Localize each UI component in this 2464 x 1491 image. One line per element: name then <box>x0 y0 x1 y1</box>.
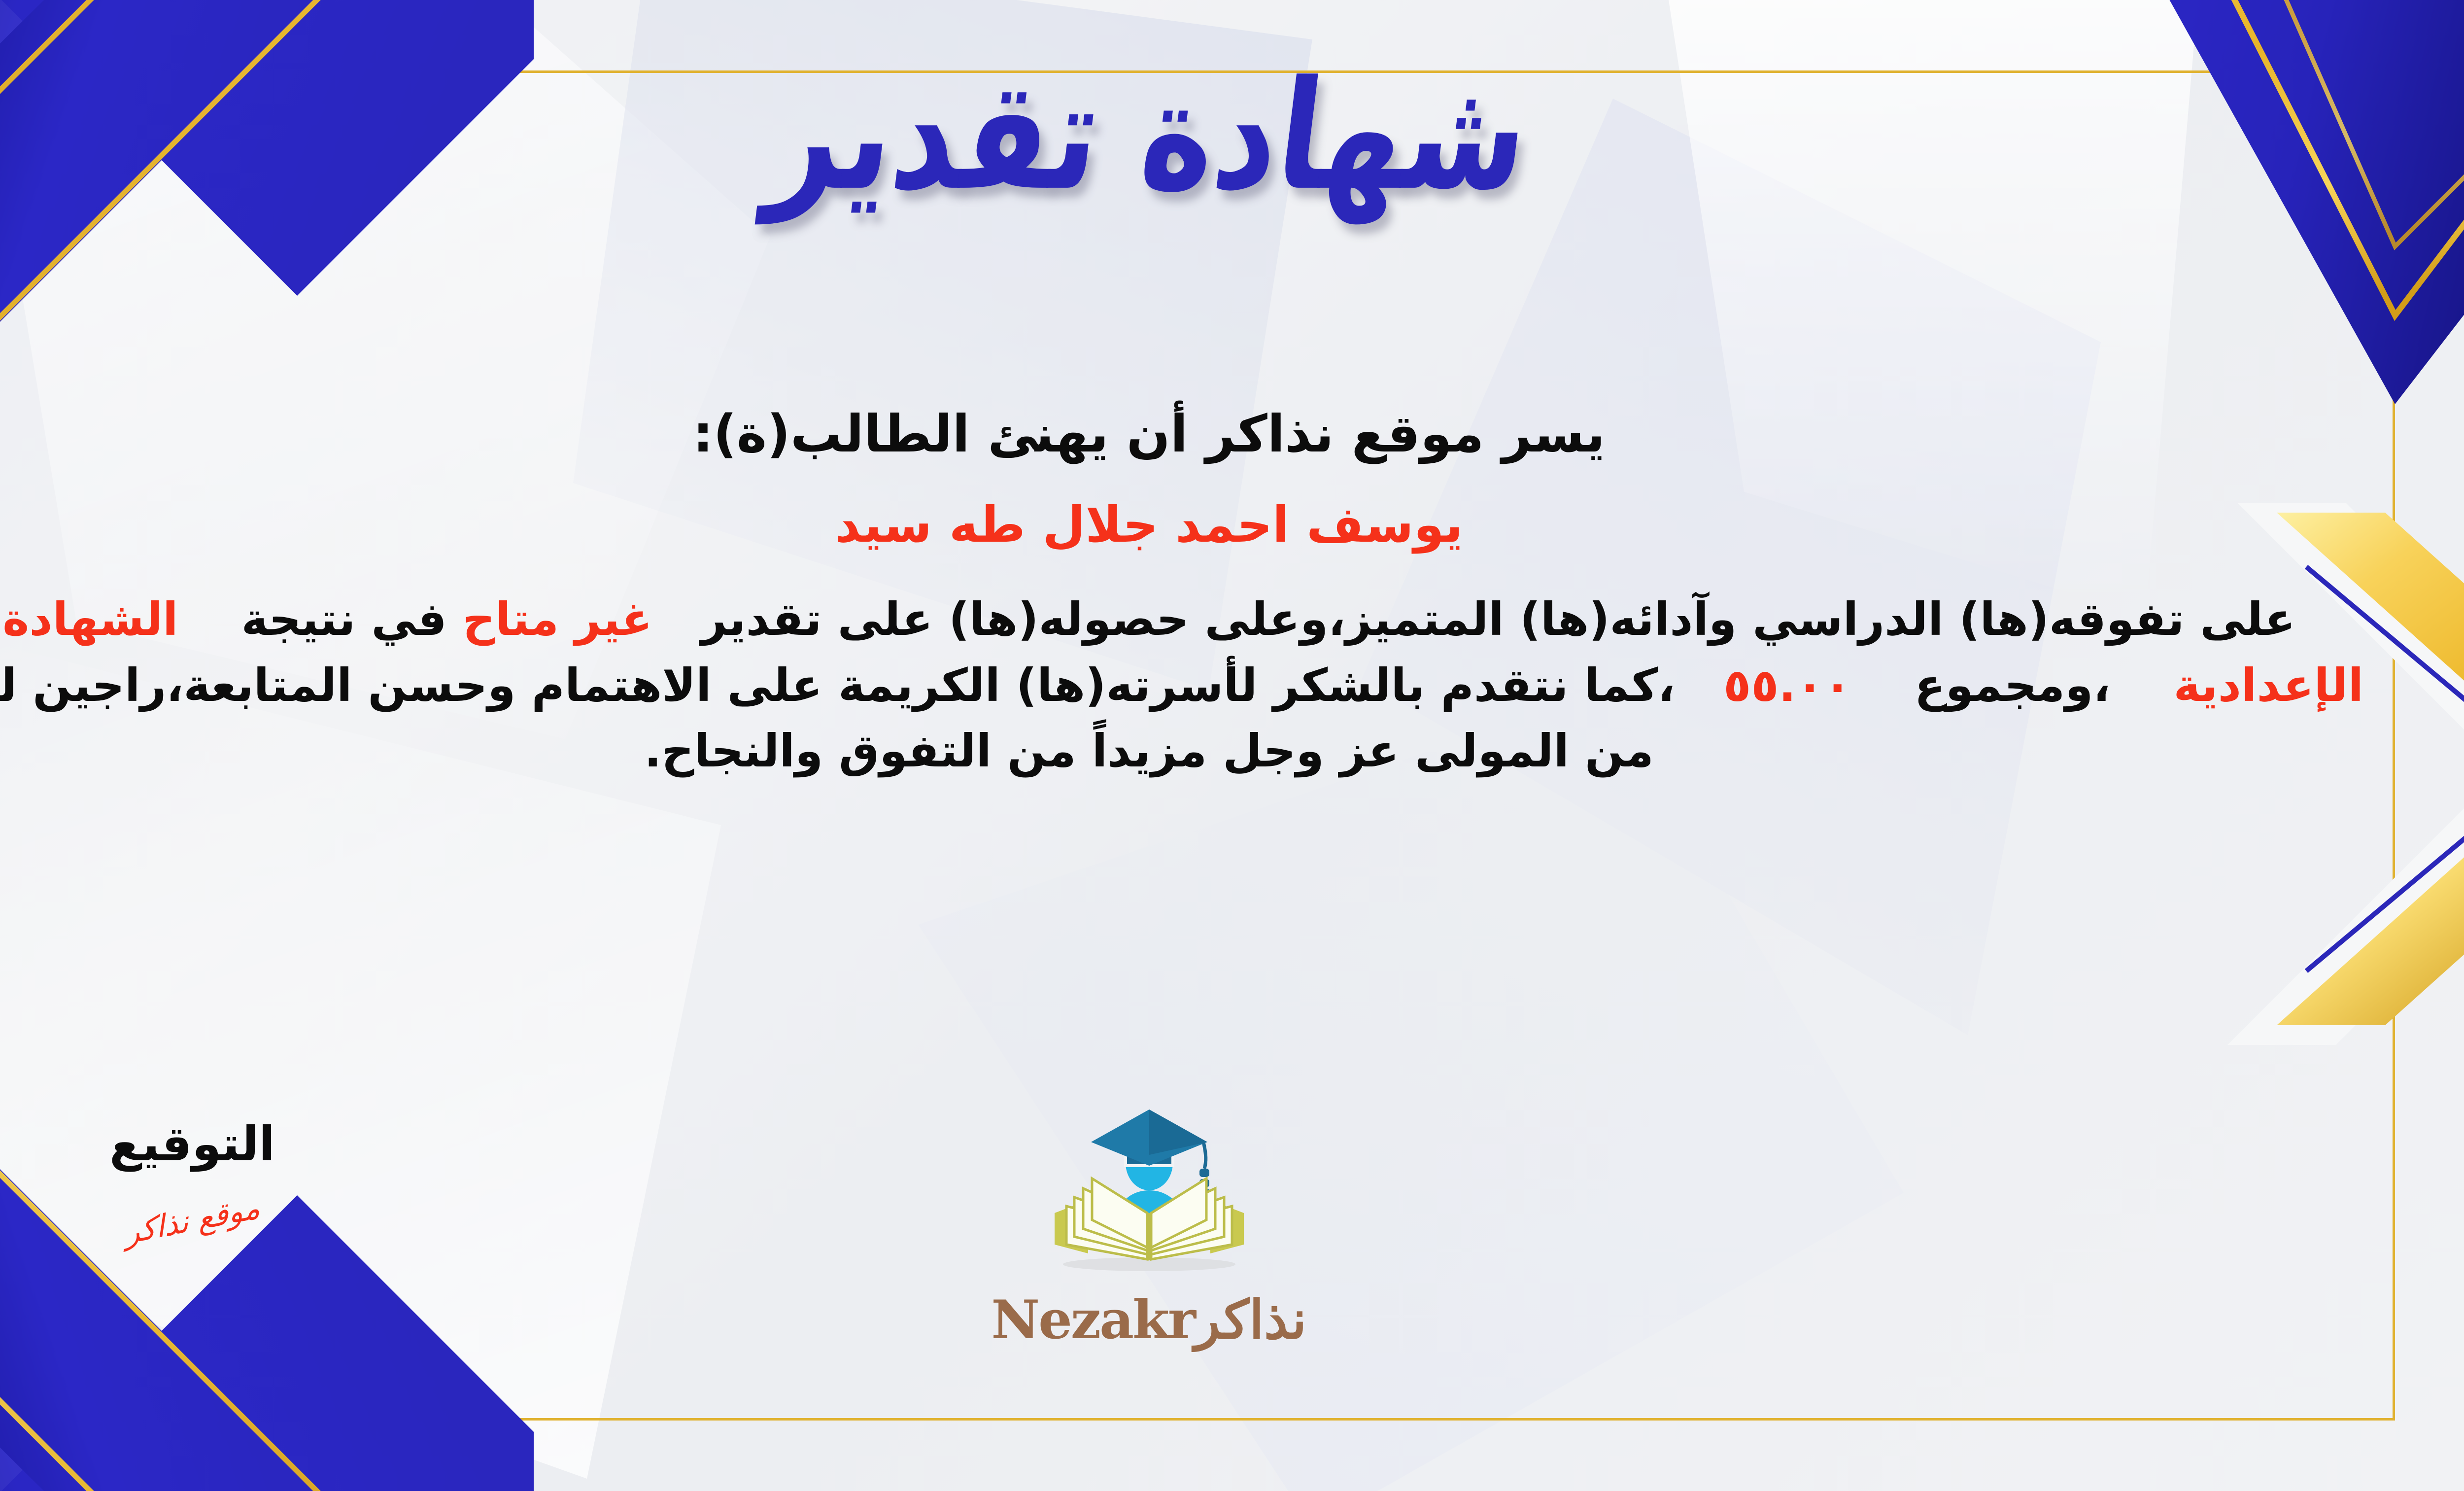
logo-wordmark: نذاكرNezakr <box>952 1289 1346 1351</box>
paragraph-segment-4: ،كما نتقدم بالشكر لأسرته(ها) <box>1016 659 1675 712</box>
intro-line: يسر موقع نذاكر أن يهنئ الطالب(ة): <box>0 399 2380 468</box>
certificate-body: يسر موقع نذاكر أن يهنئ الطالب(ة): يوسف ا… <box>0 399 2380 784</box>
certificate-title-block: شهادة تقدير <box>0 59 2464 213</box>
paragraph-segment-1: على تفوقه(ها) الدراسي وآدائه(ها) المتميز… <box>701 593 2295 646</box>
page-title: شهادة تقدير <box>759 42 1539 230</box>
certificate-canvas: شهادة تقدير يسر موقع نذاكر أن يهنئ الطال… <box>0 0 2464 1491</box>
paragraph-segment-3: ،ومجموع <box>1915 659 2111 712</box>
logo-name-arabic: نذاكر <box>1195 1289 1307 1351</box>
paragraph-segment-2: في نتيجة <box>241 593 447 646</box>
grade-value: غير متاح <box>463 593 652 646</box>
student-name: يوسف احمد جلال طه سيد <box>0 493 2380 557</box>
signature-label: التوقيع <box>64 1116 320 1172</box>
paragraph-segment-6: مزيداً من التفوق والنجاح. <box>644 725 1207 777</box>
signature-handwritten: موقع نذاكر <box>123 1189 261 1251</box>
graduate-book-icon <box>1041 1097 1258 1294</box>
congratulation-paragraph: على تفوقه(ها) الدراسي وآدائه(ها) المتميز… <box>0 587 2380 784</box>
signature-block: التوقيع موقع نذاكر <box>64 1116 320 1238</box>
certificate-footer: التوقيع موقع نذاكر <box>0 1097 2380 1402</box>
total-score: ٥٥.٠٠ <box>1723 659 1851 712</box>
brand-logo: نذاكرNezakr <box>952 1097 1346 1351</box>
logo-name-latin: Nezakr <box>991 1289 1194 1351</box>
